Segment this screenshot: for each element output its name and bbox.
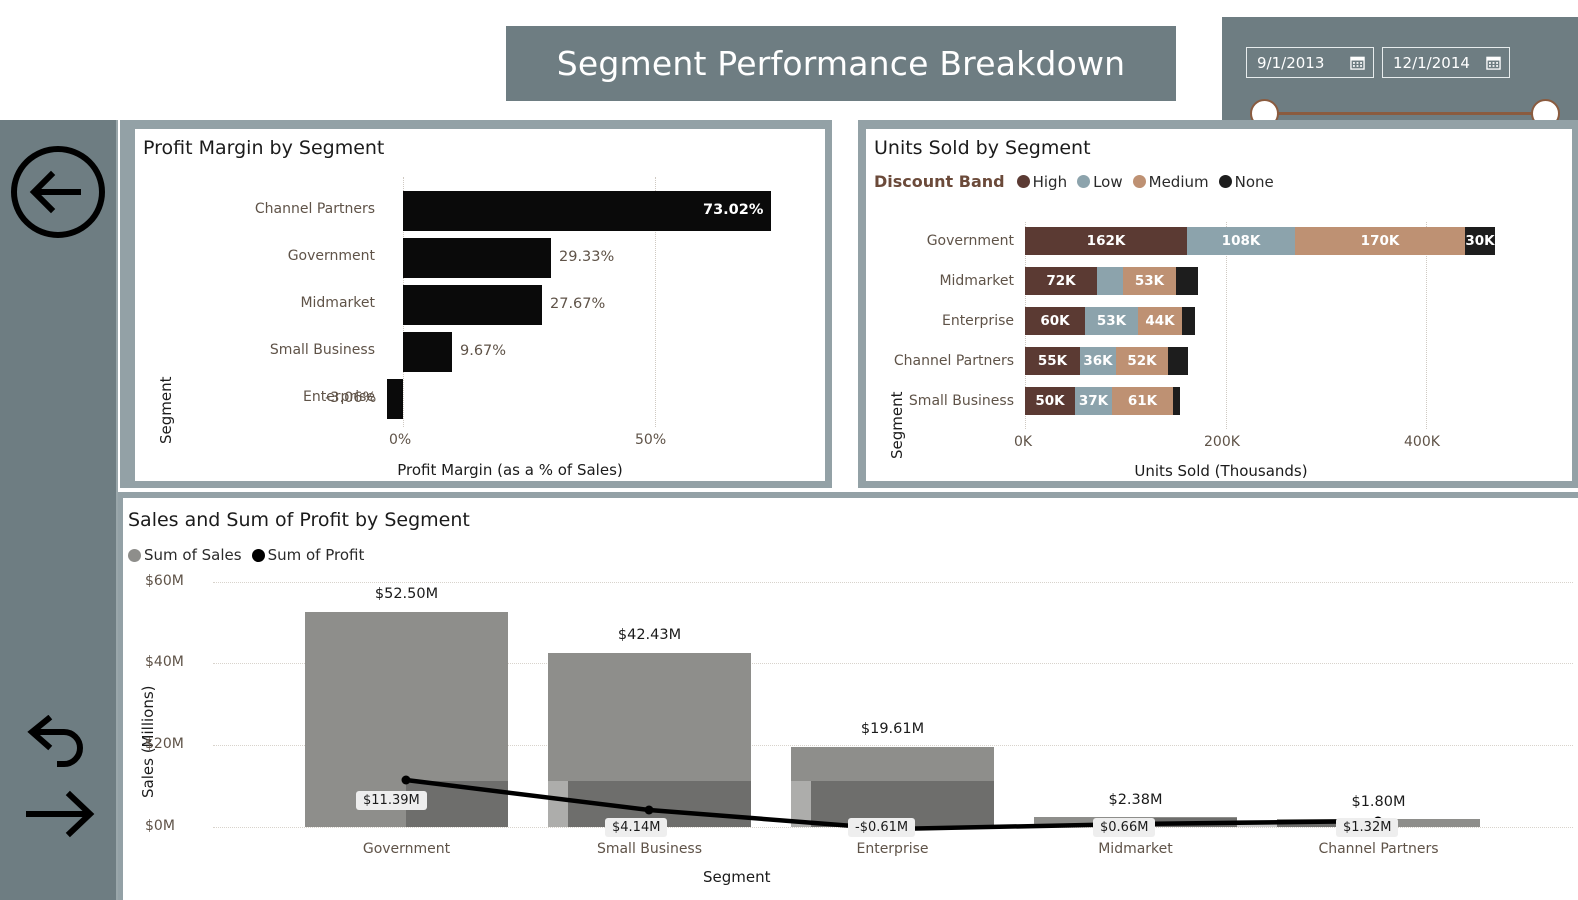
legend-swatch-high: [1017, 175, 1030, 188]
legend-item-medium[interactable]: Medium: [1133, 173, 1209, 191]
units-sold-x-axis-title: Units Sold (Thousands): [986, 462, 1456, 480]
legend-item-high[interactable]: High: [1017, 173, 1067, 191]
profit-margin-bar-3[interactable]: [403, 332, 452, 372]
units-seg-midmarket-none[interactable]: [1176, 267, 1198, 295]
date-range-slicer[interactable]: 9/1/2013 12/1/2014: [1222, 17, 1578, 123]
profit-margin-title: Profit Margin by Segment: [143, 137, 384, 159]
profit-margin-x-axis-title: Profit Margin (as a % of Sales): [300, 461, 720, 479]
units-seg-midmarket-low[interactable]: [1097, 267, 1123, 295]
units-seg-enterprise-medium[interactable]: 44K: [1138, 307, 1182, 335]
units-seg-channel-medium[interactable]: 52K: [1116, 347, 1168, 375]
legend-label-none: None: [1235, 173, 1274, 191]
profit-margin-xtick-1: 50%: [635, 432, 666, 448]
profit-margin-bar-2[interactable]: [403, 285, 542, 325]
units-seg-smallbiz-high[interactable]: 50K: [1025, 387, 1075, 415]
profit-margin-cat-3: Small Business: [155, 342, 375, 358]
sidebar-item-forward[interactable]: [22, 788, 96, 844]
profit-margin-bar-1[interactable]: [403, 238, 551, 278]
legend-item-none[interactable]: None: [1219, 173, 1274, 191]
undo-icon: [24, 715, 90, 771]
sidebar-navigation: [0, 120, 118, 900]
profit-margin-y-axis-title: Segment: [157, 377, 175, 445]
units-seg-government-none[interactable]: 30K: [1465, 227, 1495, 255]
profit-chip-enterprise: -$0.61M: [848, 818, 915, 837]
units-seg-midmarket-high[interactable]: 72K: [1025, 267, 1097, 295]
back-circle-icon: [11, 145, 105, 239]
page-title: Segment Performance Breakdown: [557, 44, 1126, 83]
units-sold-card[interactable]: Units Sold by Segment Discount Band High…: [866, 129, 1572, 481]
units-seg-government-medium[interactable]: 170K: [1295, 227, 1465, 255]
date-slider-track[interactable]: [1264, 112, 1546, 115]
discount-band-legend[interactable]: Discount Band High Low Medium None: [874, 172, 1284, 191]
units-seg-enterprise-none[interactable]: [1182, 307, 1195, 335]
units-sold-title: Units Sold by Segment: [874, 137, 1091, 159]
profit-margin-value-3: 9.67%: [460, 343, 506, 359]
units-seg-smallbiz-none[interactable]: [1173, 387, 1180, 415]
sales-profit-card[interactable]: Sales and Sum of Profit by Segment Sum o…: [123, 498, 1578, 900]
units-seg-channel-none[interactable]: [1168, 347, 1188, 375]
profit-chip-channel-partners: $1.32M: [1336, 818, 1398, 837]
profit-point-government[interactable]: [402, 776, 411, 785]
units-seg-enterprise-high[interactable]: 60K: [1025, 307, 1085, 335]
units-sold-xtick-2: 400K: [1404, 434, 1440, 450]
date-to-value: 12/1/2014: [1393, 54, 1486, 72]
profit-margin-card[interactable]: Profit Margin by Segment Segment Profit …: [135, 129, 825, 481]
date-to-field[interactable]: 12/1/2014: [1382, 47, 1510, 78]
legend-swatch-low: [1077, 175, 1090, 188]
legend-item-low[interactable]: Low: [1077, 173, 1123, 191]
legend-swatch-medium: [1133, 175, 1146, 188]
profit-margin-value-2: 27.67%: [550, 296, 605, 312]
legend-label-medium: Medium: [1149, 173, 1209, 191]
calendar-icon: [1486, 55, 1501, 70]
units-seg-smallbiz-medium[interactable]: 61K: [1112, 387, 1173, 415]
units-sold-xtick-1: 200K: [1204, 434, 1240, 450]
date-from-field[interactable]: 9/1/2013: [1246, 47, 1374, 78]
units-seg-enterprise-low[interactable]: 53K: [1085, 307, 1138, 335]
profit-chip-government: $11.39M: [356, 791, 427, 810]
profit-line-chart: [123, 498, 1578, 900]
profit-margin-cat-0: Channel Partners: [155, 201, 375, 217]
discount-band-legend-title: Discount Band: [874, 172, 1005, 191]
units-seg-government-high[interactable]: 162K: [1025, 227, 1187, 255]
profit-margin-bar-4[interactable]: [387, 379, 403, 419]
units-seg-government-low[interactable]: 108K: [1187, 227, 1295, 255]
legend-label-low: Low: [1093, 173, 1123, 191]
units-sold-cat-3: Channel Partners: [866, 353, 1014, 369]
sidebar-item-undo[interactable]: [24, 715, 90, 775]
legend-label-high: High: [1033, 173, 1067, 191]
date-from-value: 9/1/2013: [1257, 54, 1350, 72]
units-seg-smallbiz-low[interactable]: 37K: [1075, 387, 1112, 415]
sales-cat-enterprise: Enterprise: [791, 841, 994, 857]
units-seg-midmarket-medium[interactable]: 53K: [1123, 267, 1176, 295]
sales-cat-small-business: Small Business: [548, 841, 751, 857]
forward-arrow-icon: [22, 788, 96, 840]
page-title-plate: Segment Performance Breakdown: [506, 26, 1176, 101]
profit-margin-xtick-0: 0%: [389, 432, 411, 448]
profit-margin-value-4: -3.06%: [325, 390, 376, 406]
legend-swatch-none: [1219, 175, 1232, 188]
profit-margin-cat-1: Government: [155, 248, 375, 264]
units-sold-cat-4: Small Business: [866, 393, 1014, 409]
units-seg-channel-low[interactable]: 36K: [1080, 347, 1116, 375]
sales-cat-midmarket: Midmarket: [1034, 841, 1237, 857]
units-seg-channel-high[interactable]: 55K: [1025, 347, 1080, 375]
profit-margin-cat-2: Midmarket: [155, 295, 375, 311]
sales-cat-government: Government: [305, 841, 508, 857]
units-sold-xtick-0: 0K: [1014, 434, 1032, 450]
sidebar-item-back[interactable]: [11, 145, 105, 243]
units-sold-cat-0: Government: [866, 233, 1014, 249]
units-sold-cat-2: Enterprise: [866, 313, 1014, 329]
profit-margin-value-0: 73.02%: [703, 202, 763, 218]
units-sold-cat-1: Midmarket: [866, 273, 1014, 289]
calendar-icon: [1350, 55, 1365, 70]
profit-chip-midmarket: $0.66M: [1093, 818, 1155, 837]
profit-chip-small-business: $4.14M: [605, 818, 667, 837]
profit-margin-value-1: 29.33%: [559, 249, 614, 265]
profit-point-small-business[interactable]: [645, 806, 654, 815]
sales-cat-channel-partners: Channel Partners: [1277, 841, 1480, 857]
